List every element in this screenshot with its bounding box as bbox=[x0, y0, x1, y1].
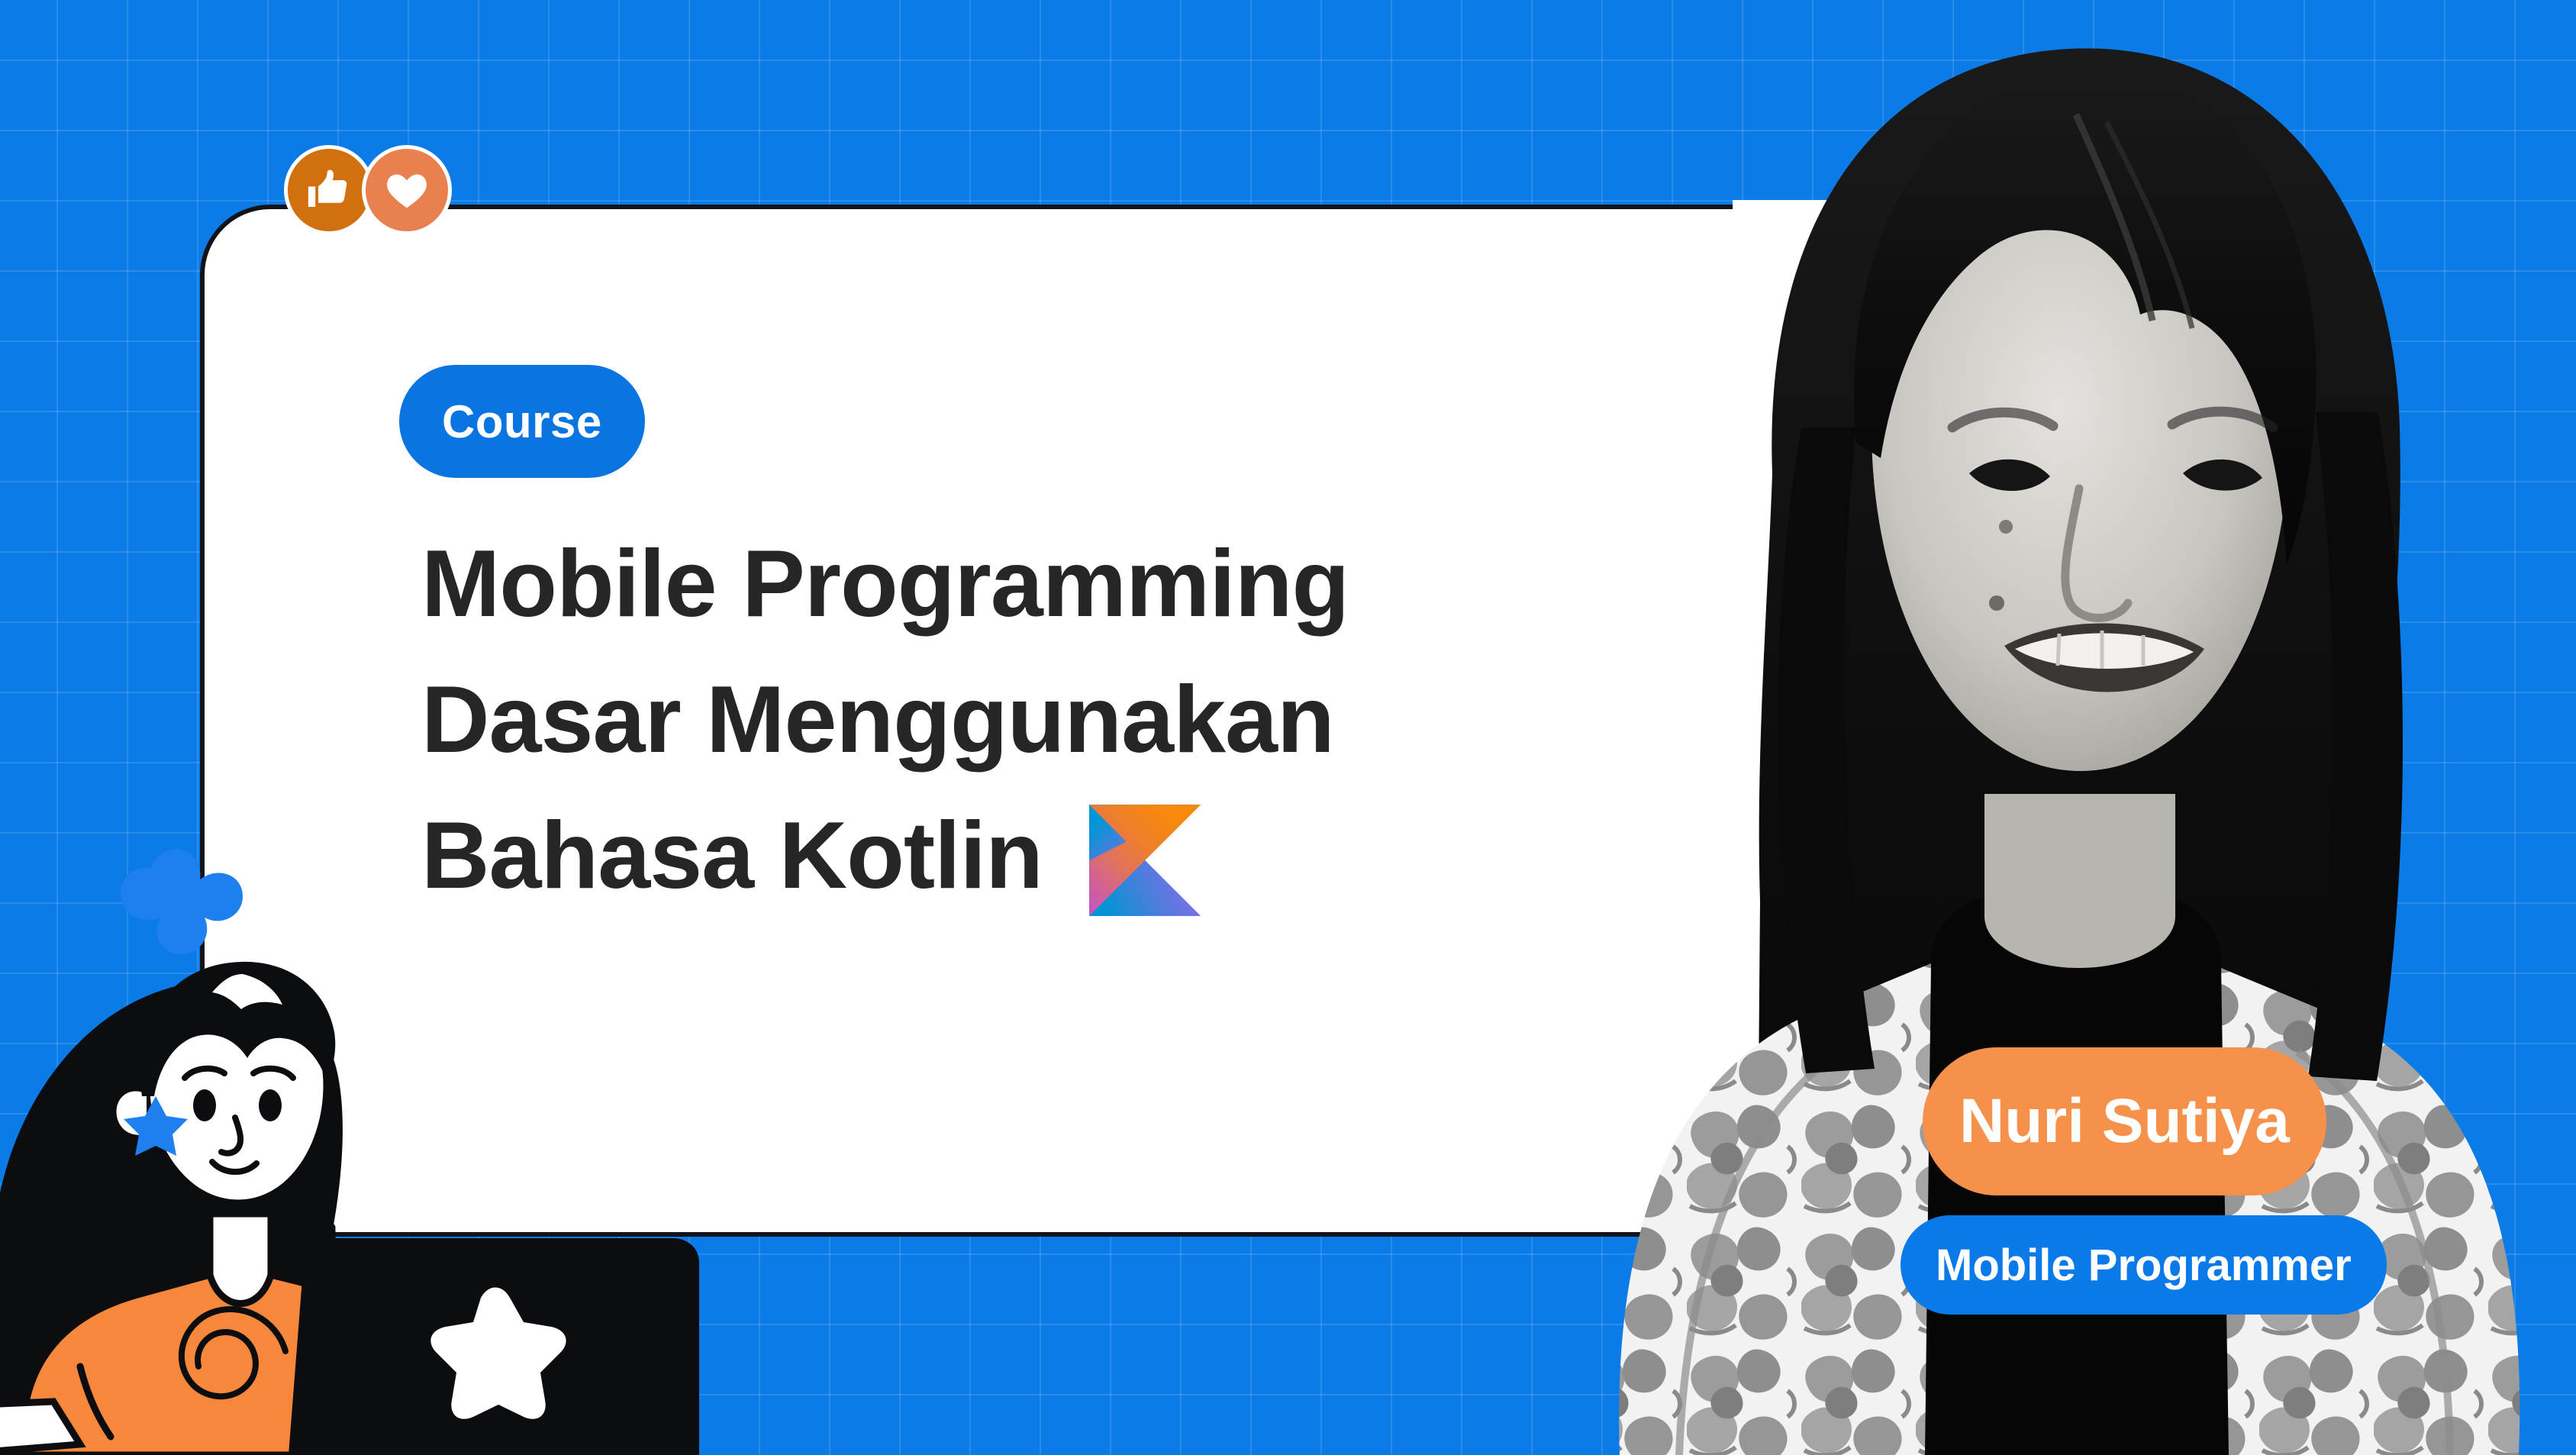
page-title: Mobile Programming Dasar Menggunakan Bah… bbox=[421, 516, 1612, 924]
heart-icon bbox=[383, 166, 430, 214]
heart-badge[interactable] bbox=[362, 145, 452, 235]
title-text-2: Dasar Menggunakan bbox=[421, 652, 1334, 788]
presenter-name-label: Nuri Sutiya bbox=[1959, 1086, 2290, 1157]
reaction-badges bbox=[284, 145, 452, 235]
kotlin-logo-icon bbox=[1081, 796, 1209, 924]
slide-canvas: Course Mobile Programming Dasar Mengguna… bbox=[0, 0, 2576, 1455]
title-text-1: Mobile Programming bbox=[421, 516, 1349, 652]
card-right-fill bbox=[1733, 200, 1946, 1246]
title-line-1: Mobile Programming bbox=[421, 516, 1612, 652]
thumbs-up-icon bbox=[305, 166, 353, 214]
title-text-3: Bahasa Kotlin bbox=[421, 788, 1043, 924]
course-badge[interactable]: Course bbox=[399, 365, 645, 478]
title-line-3: Bahasa Kotlin bbox=[421, 788, 1612, 924]
presenter-role-badge: Mobile Programmer bbox=[1901, 1215, 2387, 1315]
presenter-role-label: Mobile Programmer bbox=[1936, 1240, 2352, 1291]
thumbs-up-badge[interactable] bbox=[284, 145, 374, 235]
presenter-name-badge: Nuri Sutiya bbox=[1923, 1047, 2326, 1195]
course-badge-label: Course bbox=[442, 395, 602, 448]
title-line-2: Dasar Menggunakan bbox=[421, 652, 1612, 788]
